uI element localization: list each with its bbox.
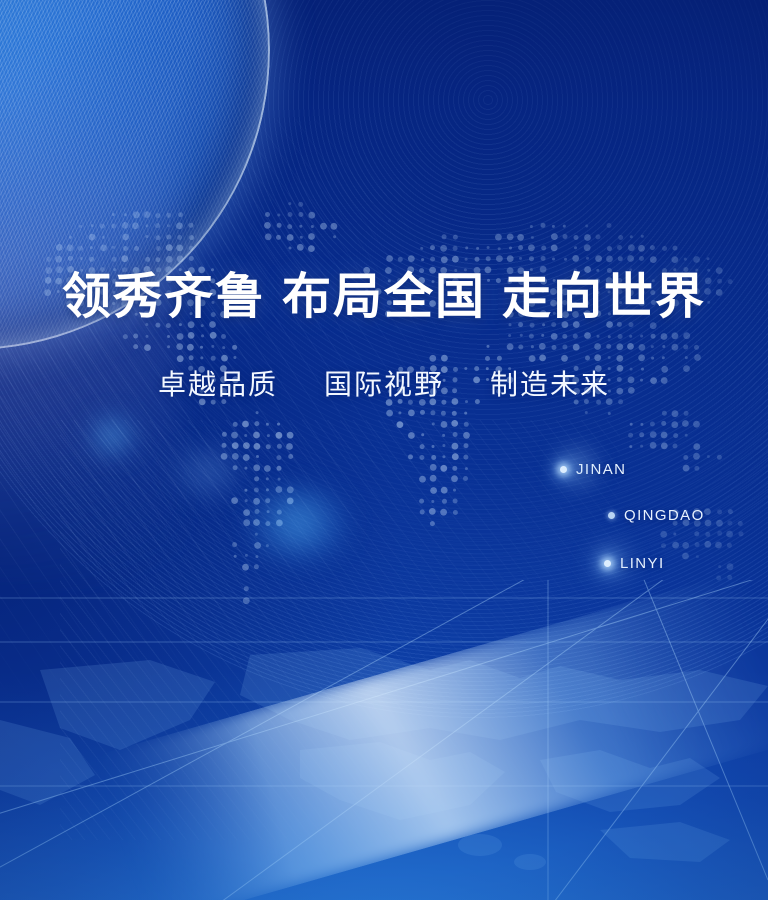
banner-hero: 领秀齐鲁布局全国走向世界 卓越品质国际视野制造未来 JINAN QINGDAO … [0, 0, 768, 900]
glow-blob-icon [168, 448, 246, 496]
glow-blob-icon [592, 548, 630, 576]
glow-blob-icon [556, 452, 596, 482]
headline-part-2: 布局全国 [282, 269, 486, 324]
city-label-qingdao: QINGDAO [624, 507, 705, 524]
subheadline-part-1: 卓越品质 [158, 370, 278, 401]
glow-blob-icon [238, 490, 358, 556]
bottom-haze [0, 670, 768, 900]
city-dot-icon [608, 512, 615, 519]
glow-blob-icon [88, 418, 136, 454]
headline-part-1: 领秀齐鲁 [62, 269, 266, 324]
subheadline: 卓越品质国际视野制造未来 [0, 372, 768, 400]
subheadline-part-2: 国际视野 [324, 370, 444, 401]
headline: 领秀齐鲁布局全国走向世界 [0, 272, 768, 321]
subheadline-part-3: 制造未来 [490, 370, 610, 401]
city-marker-qingdao[interactable]: QINGDAO [608, 507, 705, 524]
headline-part-3: 走向世界 [502, 269, 706, 324]
